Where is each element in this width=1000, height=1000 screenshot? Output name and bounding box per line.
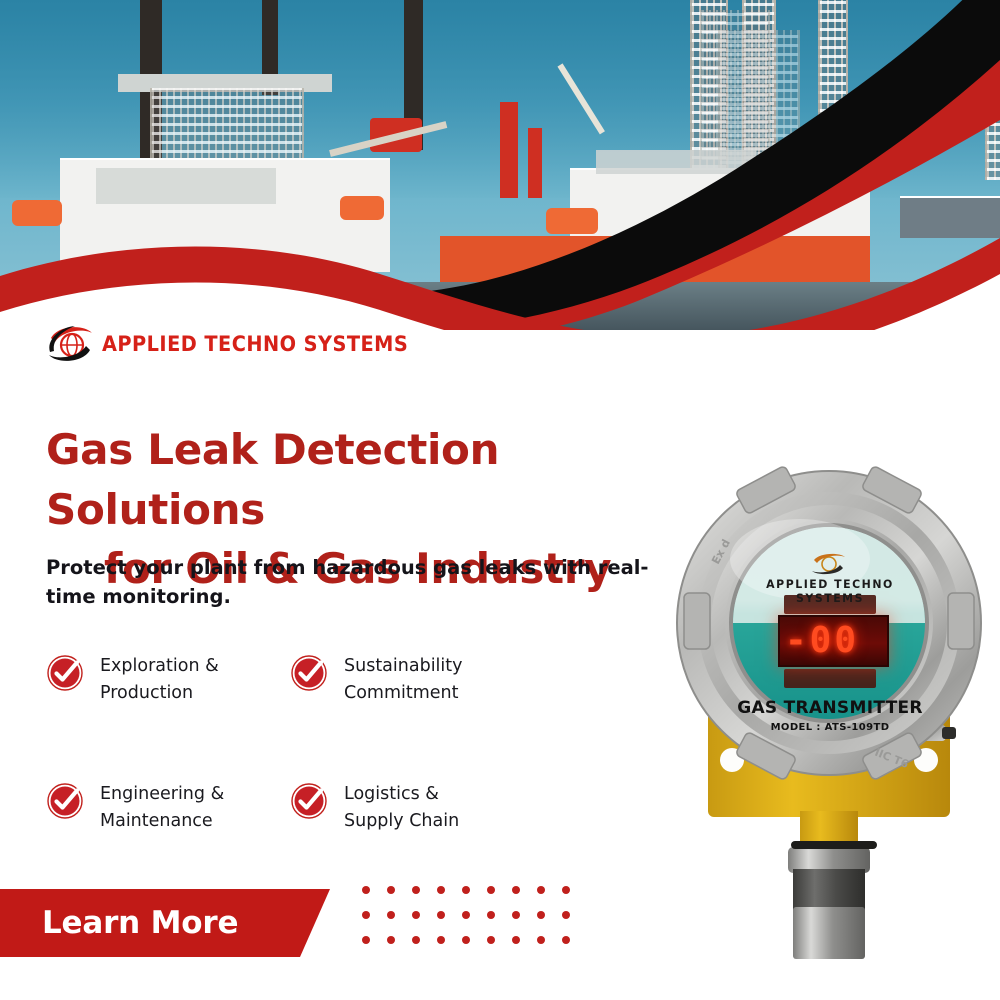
pattern-dot: [562, 936, 570, 944]
feature-item: Logistics & Supply Chain: [290, 768, 522, 896]
pattern-dot: [362, 886, 370, 894]
device-model: MODEL : ATS-109TD: [726, 722, 934, 733]
pattern-dot: [537, 911, 545, 919]
led-value: -00: [780, 623, 859, 659]
feature-label: Exploration & Production: [100, 653, 219, 707]
pattern-dot: [362, 936, 370, 944]
pattern-dot: [387, 936, 395, 944]
pattern-dot: [462, 936, 470, 944]
feature-item: Sustainability Commitment: [290, 640, 522, 768]
headline-line-1: Gas Leak Detection Solutions: [46, 425, 499, 534]
feature-item: Engineering & Maintenance: [46, 768, 278, 896]
check-circle-icon: [290, 782, 328, 820]
pattern-dot: [537, 886, 545, 894]
feature-label-line2: Production: [100, 683, 193, 703]
pattern-dot: [462, 911, 470, 919]
red-wave-divider: [0, 230, 1000, 330]
pattern-dot: [412, 886, 420, 894]
feature-label-line1: Sustainability: [344, 656, 463, 676]
pattern-dot: [412, 936, 420, 944]
brand-logo[interactable]: APPLIED TECHNO SYSTEMS: [48, 322, 435, 366]
pattern-dot: [487, 936, 495, 944]
pattern-dot: [462, 886, 470, 894]
pattern-dot: [512, 936, 520, 944]
feature-label: Logistics & Supply Chain: [344, 781, 459, 835]
feature-item: Exploration & Production: [46, 640, 278, 768]
learn-more-label: Learn More: [0, 905, 238, 941]
feature-label-line1: Exploration &: [100, 656, 219, 676]
pattern-dot: [412, 911, 420, 919]
pattern-dot: [512, 886, 520, 894]
learn-more-button[interactable]: Learn More: [0, 889, 330, 957]
feature-label-line2: Commitment: [344, 683, 459, 703]
pattern-dot: [437, 911, 445, 919]
check-circle-icon: [46, 654, 84, 692]
pattern-dot: [487, 911, 495, 919]
globe-swoosh-icon: [48, 322, 94, 366]
pattern-dot: [562, 911, 570, 919]
pattern-dot: [437, 886, 445, 894]
device-face-brand: APPLIED TECHNO SYSTEMS: [731, 577, 929, 605]
pattern-dot: [362, 911, 370, 919]
feature-label-line2: Maintenance: [100, 811, 213, 831]
brand-name: APPLIED TECHNO SYSTEMS: [102, 332, 408, 356]
feature-label-line2: Supply Chain: [344, 811, 459, 831]
check-circle-icon: [290, 654, 328, 692]
pattern-dot: [562, 886, 570, 894]
feature-list: Exploration & Production Sustainability …: [46, 640, 566, 896]
device-face-logo-icon: [812, 551, 846, 577]
promo-poster: APPLIED TECHNO SYSTEMS Gas Leak Detectio…: [0, 0, 1000, 1000]
pattern-dot: [387, 886, 395, 894]
device-title: GAS TRANSMITTER: [726, 698, 934, 718]
dot-pattern-decoration: [362, 886, 587, 961]
pattern-dot: [437, 936, 445, 944]
feature-label: Sustainability Commitment: [344, 653, 463, 707]
hero-banner: [0, 0, 1000, 330]
pattern-dot: [512, 911, 520, 919]
check-circle-icon: [46, 782, 84, 820]
gas-transmitter-product-image: Ex d IIC T6 APPLIED TECHNO SYSTEMS -00 G…: [660, 455, 1000, 965]
pattern-dot: [387, 911, 395, 919]
feature-label-line1: Engineering &: [100, 784, 224, 804]
feature-label-line1: Logistics &: [344, 784, 439, 804]
feature-label: Engineering & Maintenance: [100, 781, 224, 835]
led-display: -00: [778, 615, 889, 667]
subheading: Protect your plant from hazardous gas le…: [46, 553, 656, 612]
pattern-dot: [487, 886, 495, 894]
pattern-dot: [537, 936, 545, 944]
